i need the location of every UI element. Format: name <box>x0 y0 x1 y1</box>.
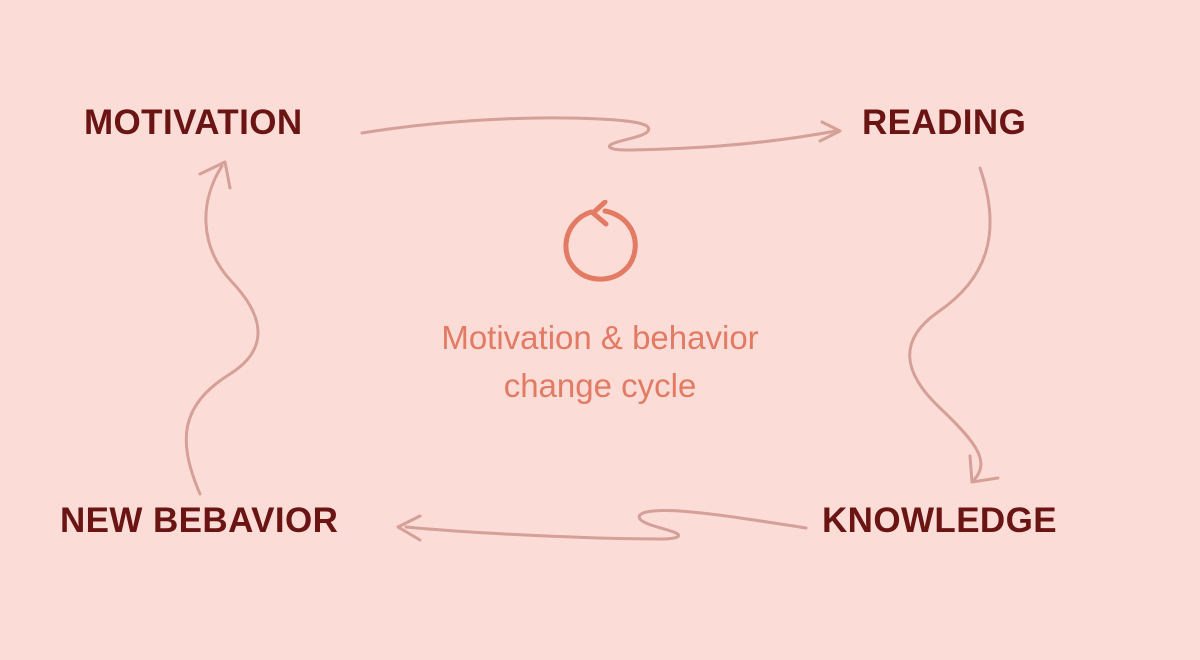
arrow-reading-to-knowledge <box>910 168 998 482</box>
node-label-motivation: MOTIVATION <box>84 105 303 140</box>
node-label-knowledge: KNOWLEDGE <box>822 503 1057 538</box>
arrow-new-behavior-to-motivation <box>186 162 258 494</box>
node-label-new-behavior: NEW BEBAVIOR <box>60 503 338 538</box>
center-caption: Motivation & behavior change cycle <box>330 314 870 410</box>
arrow-knowledge-to-new-behavior <box>398 510 806 540</box>
center-group: Motivation & behavior change cycle <box>330 200 870 410</box>
arrow-motivation-to-reading <box>362 118 840 150</box>
diagram-canvas: MOTIVATION READING KNOWLEDGE NEW BEBAVIO… <box>0 0 1200 660</box>
refresh-cycle-icon <box>557 200 643 286</box>
node-label-reading: READING <box>862 105 1026 140</box>
